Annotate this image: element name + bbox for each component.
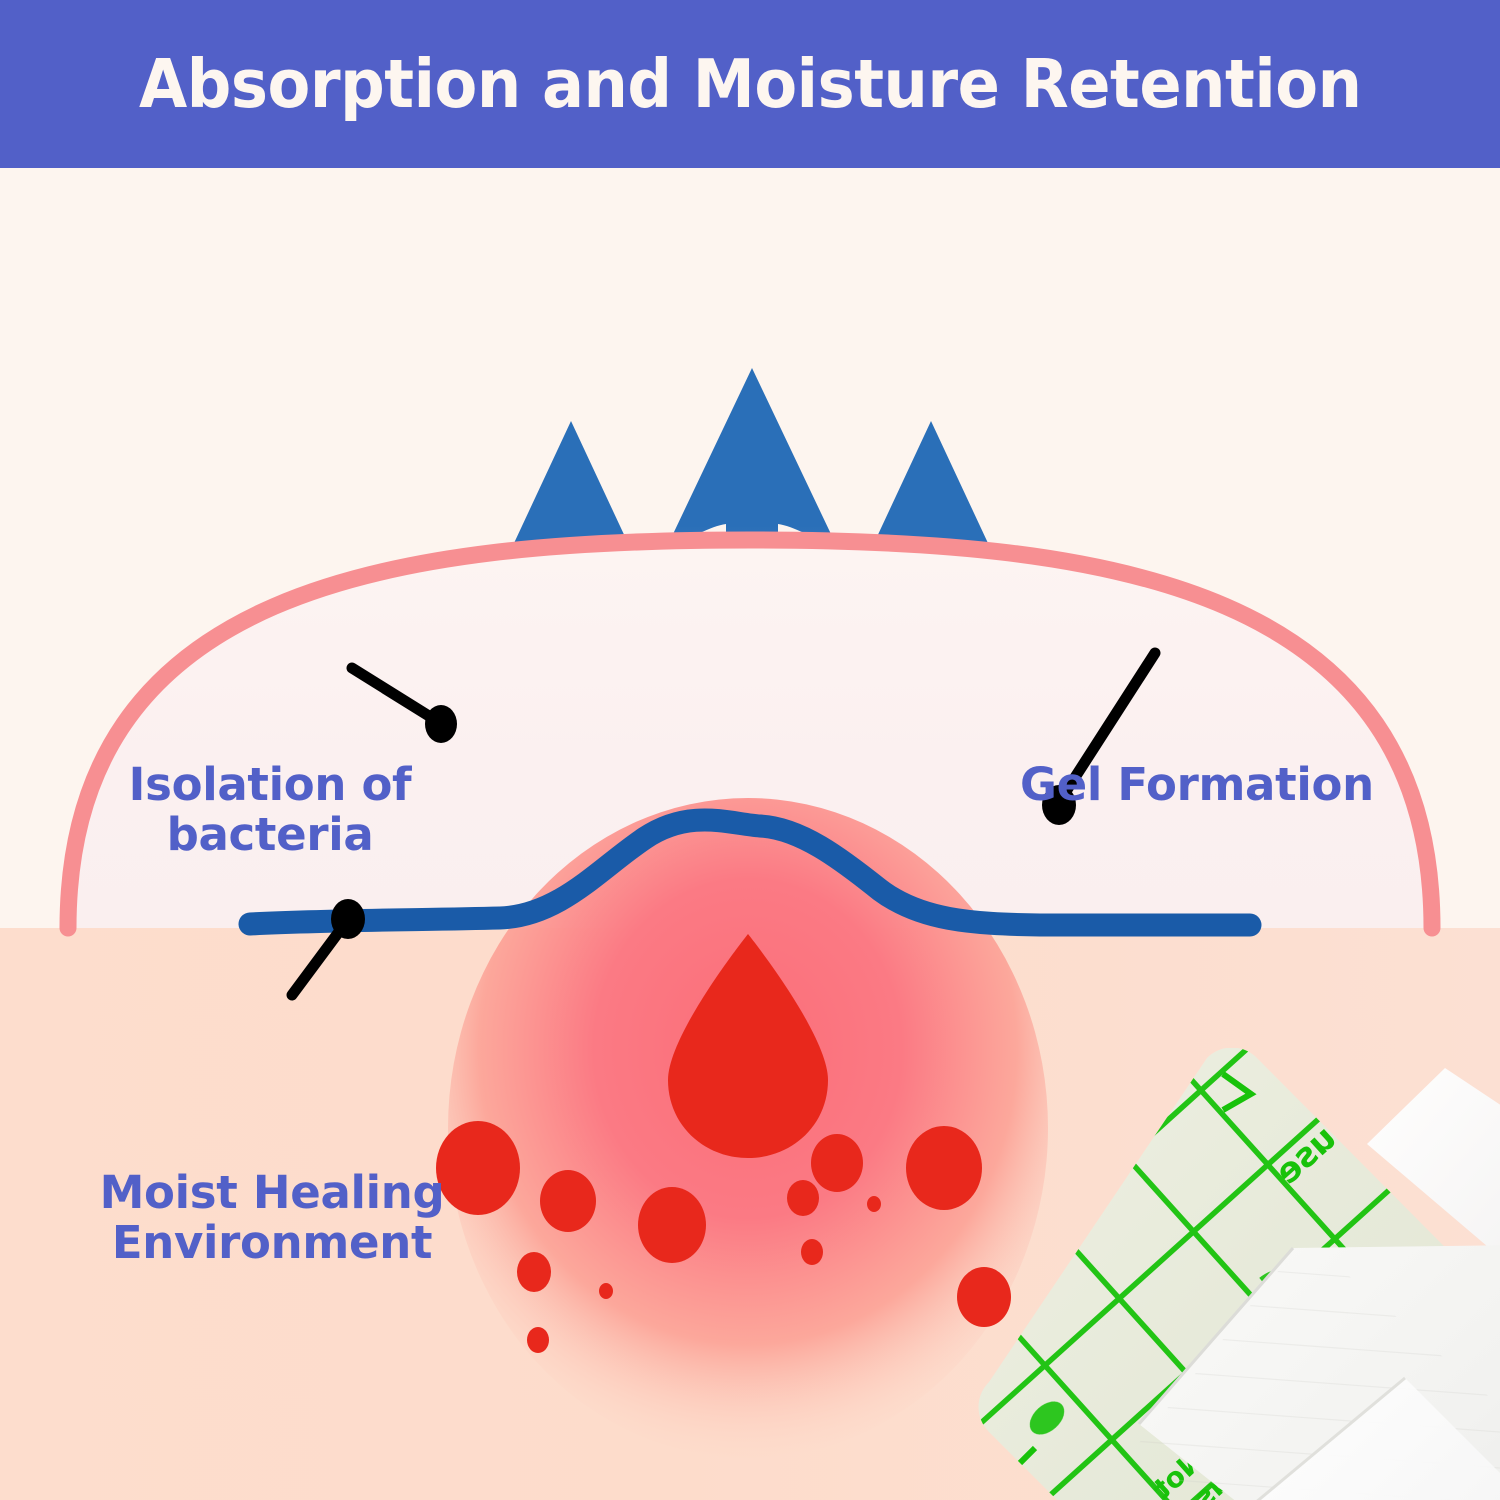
page-title: Absorption and Moisture Retention [139,51,1361,118]
exudate-spot [638,1187,706,1263]
callout-line: Moist Healing [62,1168,482,1218]
callout-line: Gel Formation [1020,760,1460,810]
leader-dot-isolation [425,705,457,743]
exudate-spot [540,1170,596,1232]
callout-line: Isolation of [60,760,480,810]
exudate-spot [906,1126,982,1210]
callout-isolation-of-bacteria: Isolation of bacteria [60,760,480,861]
header-banner: Absorption and Moisture Retention [0,0,1500,168]
infographic-poster: Absorption and Moisture Retention [0,0,1500,1500]
exudate-spot [527,1327,549,1353]
exudate-spot [957,1267,1011,1327]
exudate-spot [517,1252,551,1292]
exudate-spot [787,1180,819,1216]
exudate-spot [599,1283,613,1299]
diagram-scene: Reuse Not use [0,168,1500,1500]
callout-moist-healing-environment: Moist Healing Environment [62,1168,482,1269]
callout-line: Environment [62,1218,482,1268]
callout-line: bacteria [60,810,480,860]
callout-gel-formation: Gel Formation [1020,760,1460,810]
exudate-spot [811,1134,863,1192]
leader-dot-moist [331,899,365,939]
exudate-spot [867,1196,881,1212]
exudate-spot [801,1239,823,1265]
